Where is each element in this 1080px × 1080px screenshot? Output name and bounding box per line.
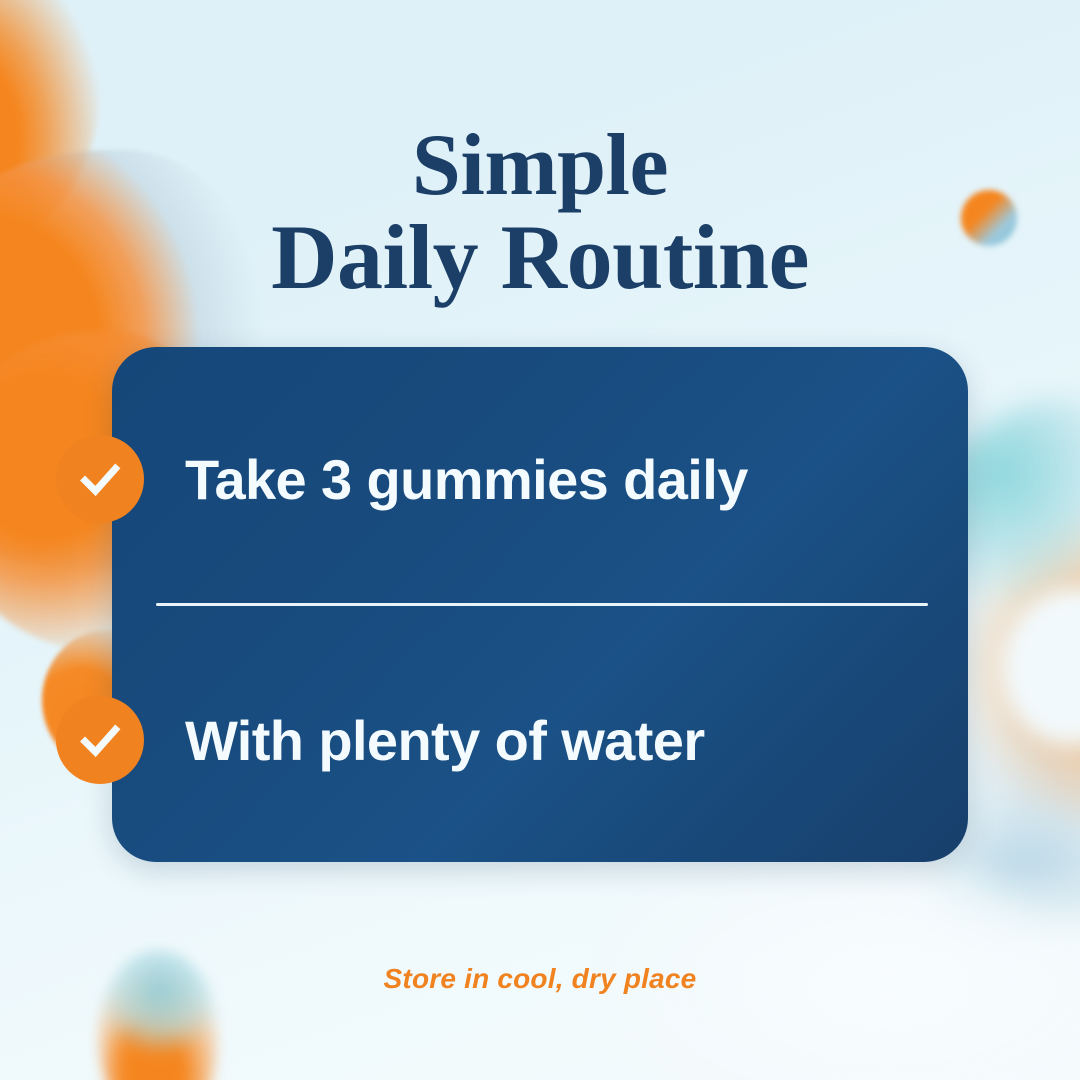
blob-bottom-stem-shape (112, 1020, 178, 1080)
page-title-line-2: Daily Routine (0, 211, 1080, 305)
check-circle-icon (56, 435, 144, 523)
check-circle-icon (56, 696, 144, 784)
page-title: Simple Daily Routine (0, 121, 1080, 305)
routine-list-item-1: Take 3 gummies daily (56, 435, 836, 523)
routine-list-item-2: With plenty of water (56, 696, 836, 784)
routine-list-divider (156, 603, 928, 606)
storage-note: Store in cool, dry place (0, 963, 1080, 995)
page-title-line-1: Simple (0, 121, 1080, 211)
poster-canvas: Simple Daily Routine Take 3 gummies dail… (0, 0, 1080, 1080)
blob-right-hole-shape (1002, 588, 1080, 748)
routine-list-item-1-label: Take 3 gummies daily (185, 447, 748, 512)
routine-list-item-2-label: With plenty of water (185, 708, 705, 773)
